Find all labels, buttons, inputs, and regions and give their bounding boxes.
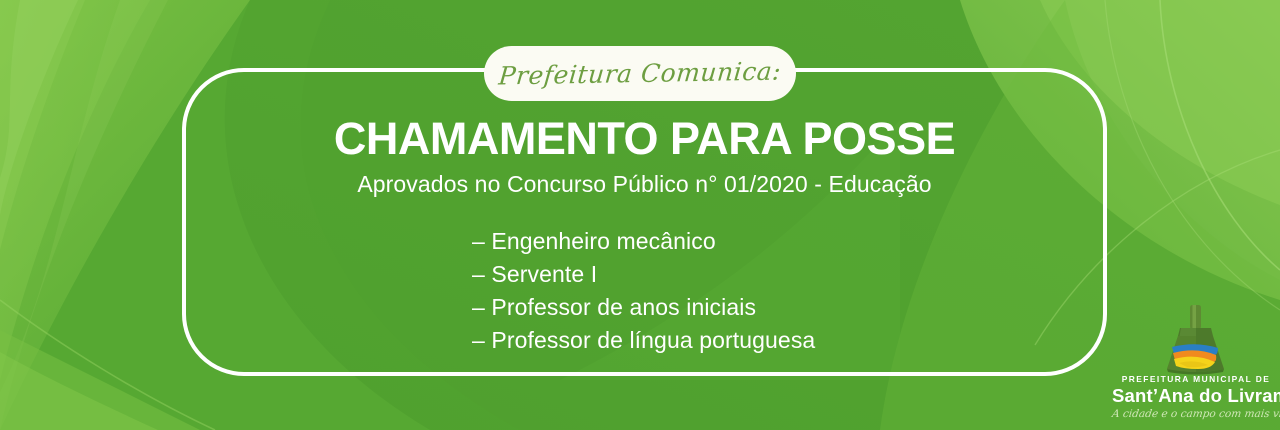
page-title: CHAMAMENTO PARA POSSE [334, 116, 955, 162]
list-item: – Servente I [472, 258, 1107, 291]
logo-tagline: A cidade e o campo com mais vigor! [1111, 408, 1280, 420]
logo-line-prefeitura: PREFEITURA MUNICIPAL DE [1112, 374, 1280, 384]
list-item: – Professor de língua portuguesa [472, 324, 1107, 357]
banner-root: Prefeitura Comunica: CHAMAMENTO PARA POS… [0, 0, 1280, 430]
list-item: – Engenheiro mecânico [472, 225, 1107, 258]
content-block: CHAMAMENTO PARA POSSE Aprovados no Concu… [182, 68, 1107, 376]
municipality-logo: PREFEITURA MUNICIPAL DE Sant’Ana do Livr… [1112, 303, 1280, 423]
page-subtitle: Aprovados no Concurso Público n° 01/2020… [357, 171, 931, 198]
logo-line-city: Sant’Ana do Livramento [1112, 385, 1280, 407]
list-item: – Professor de anos iniciais [472, 291, 1107, 324]
cuia-chimarrao-icon [1112, 303, 1280, 375]
position-list: – Engenheiro mecânico – Servente I – Pro… [182, 225, 1107, 357]
